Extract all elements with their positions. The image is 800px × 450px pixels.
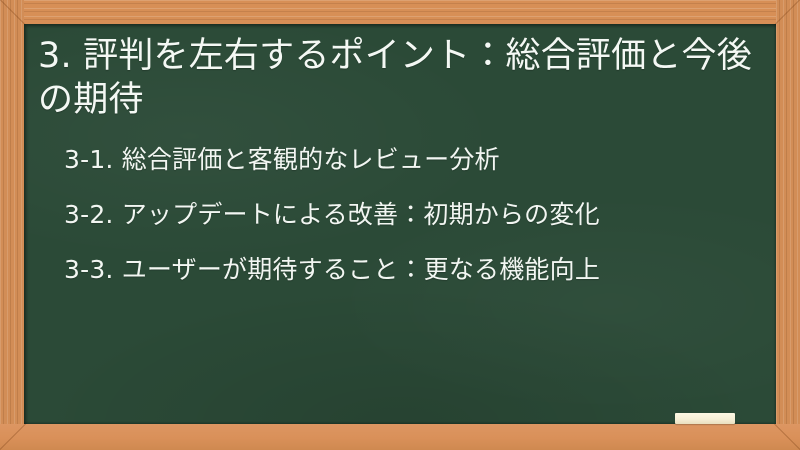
frame-top-rail: [0, 0, 800, 24]
subitem-3-1: 3-1. 総合評価と客観的なレビュー分析: [64, 146, 762, 174]
subitem-3-2: 3-2. アップデートによる改善：初期からの変化: [64, 201, 762, 229]
slide-title: 3. 評判を左右するポイント：総合評価と今後の期待: [36, 34, 762, 122]
slide-content: 3. 評判を左右するポイント：総合評価と今後の期待 3-1. 総合評価と客観的な…: [24, 24, 776, 424]
chalk-stick: [675, 413, 735, 424]
chalkboard-slide: 3. 評判を左右するポイント：総合評価と今後の期待 3-1. 総合評価と客観的な…: [0, 0, 800, 450]
frame-left-rail: [0, 0, 24, 450]
chalkboard-surface: 3. 評判を左右するポイント：総合評価と今後の期待 3-1. 総合評価と客観的な…: [24, 24, 776, 424]
subitem-list: 3-1. 総合評価と客観的なレビュー分析 3-2. アップデートによる改善：初期…: [36, 146, 762, 284]
frame-right-rail: [776, 0, 800, 450]
subitem-3-3: 3-3. ユーザーが期待すること：更なる機能向上: [64, 256, 762, 284]
frame-bottom-ledge: [0, 424, 800, 450]
